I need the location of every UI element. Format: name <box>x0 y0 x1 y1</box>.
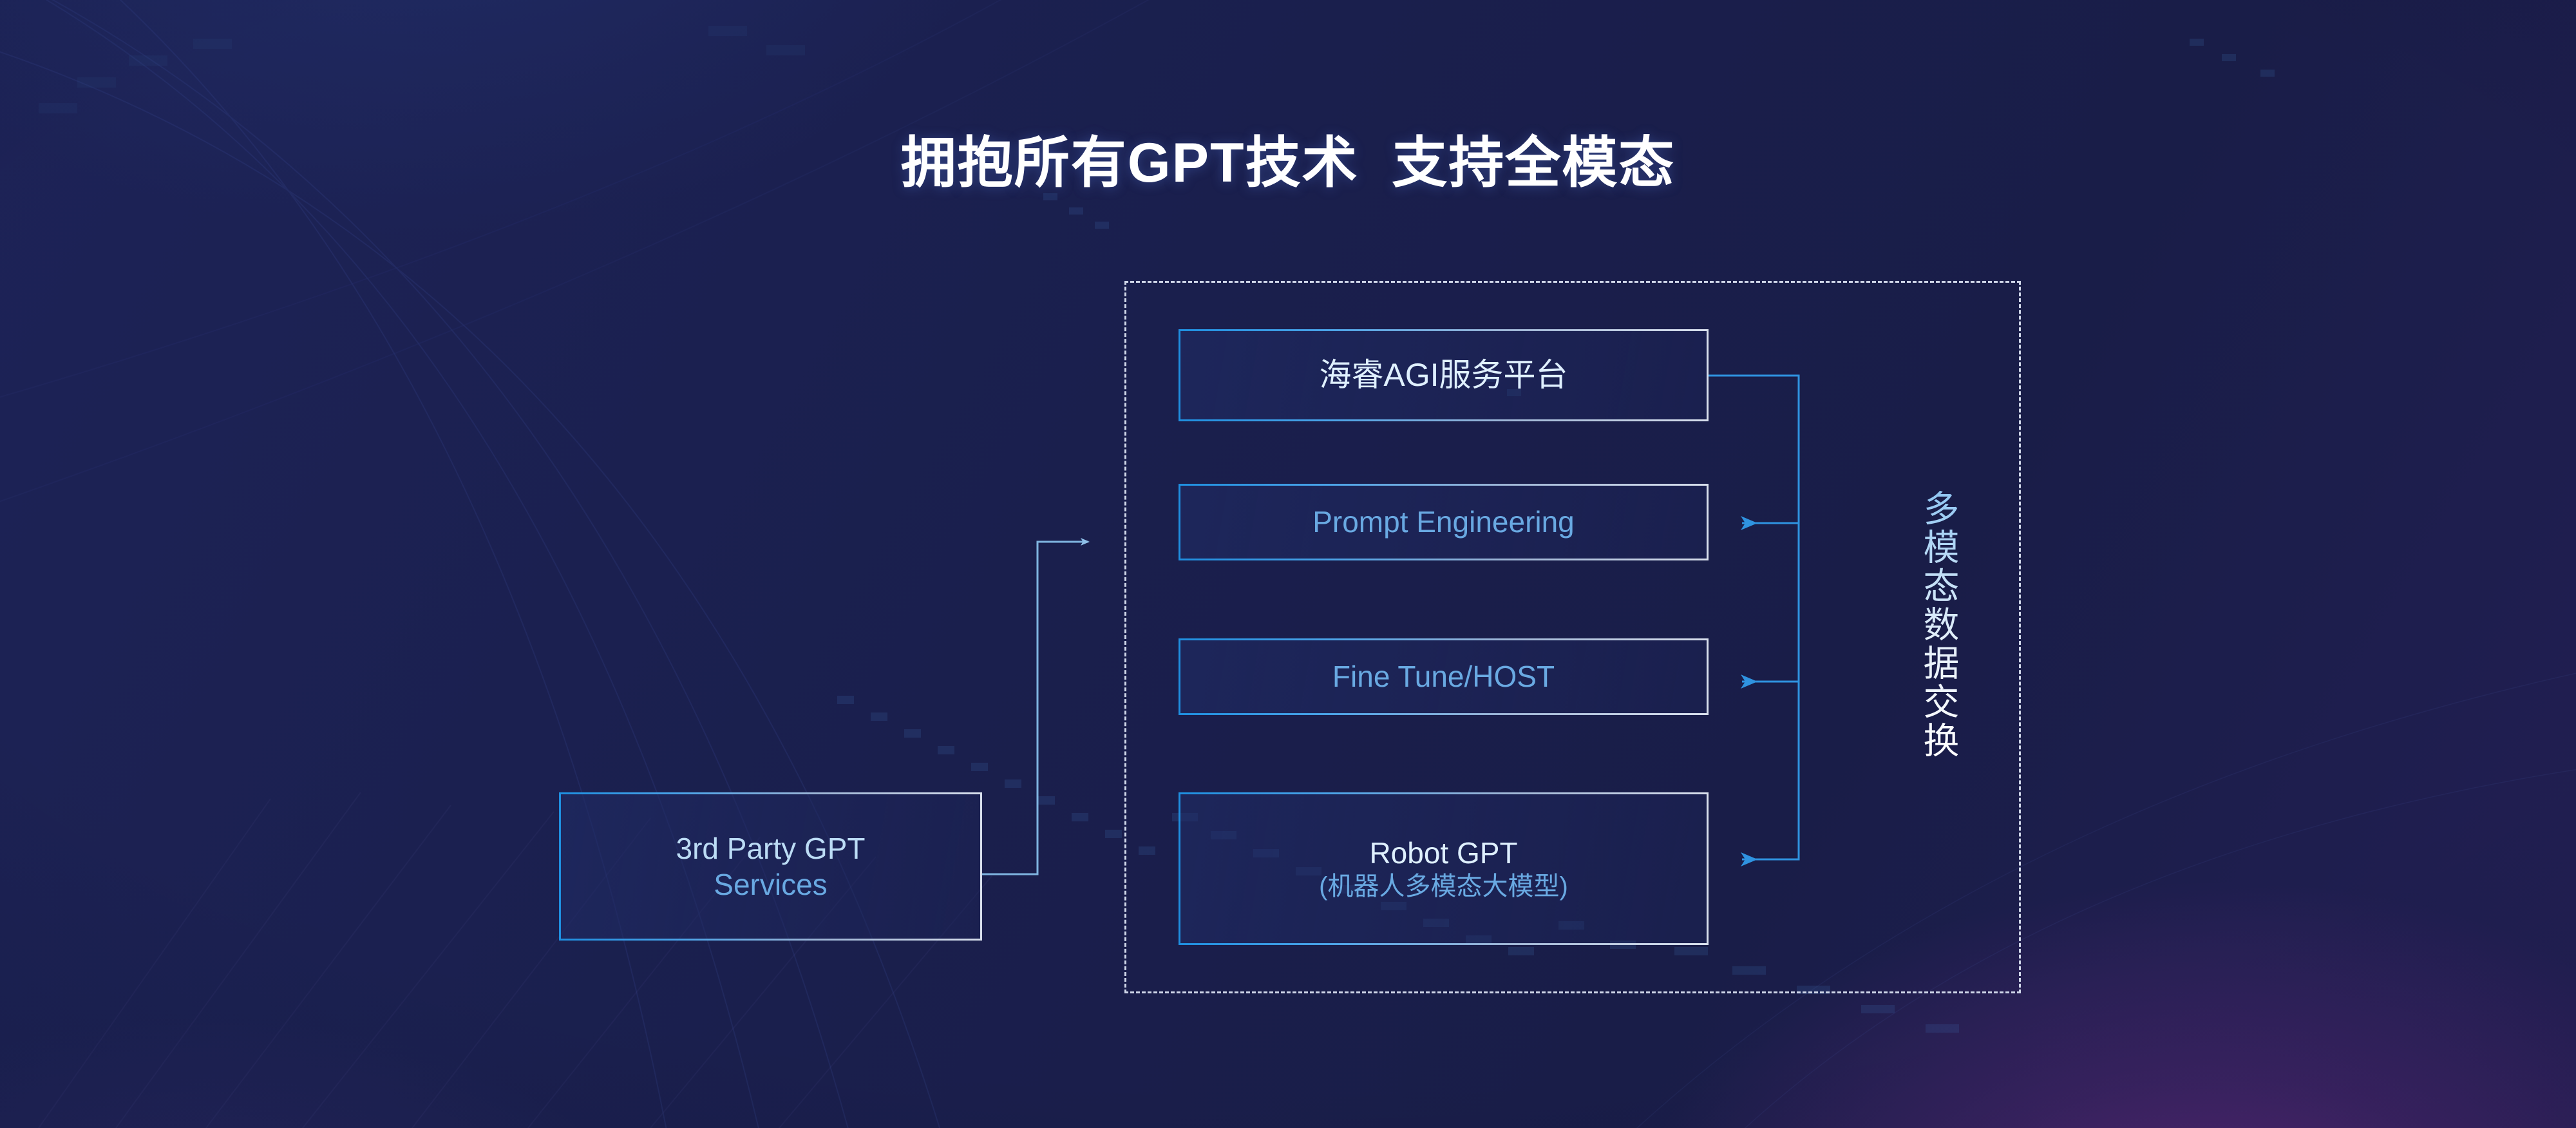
node-robot-gpt-sublabel: (机器人多模态大模型) <box>1319 871 1568 903</box>
node-third-party-gpt-sublabel: Services <box>714 866 827 903</box>
node-prompt-engineering-label: Prompt Engineering <box>1312 504 1575 540</box>
node-fine-tune-host[interactable]: Fine Tune/HOST <box>1179 638 1709 715</box>
node-agi-platform[interactable]: 海睿AGI服务平台 <box>1179 329 1709 421</box>
node-fine-tune-host-label: Fine Tune/HOST <box>1332 658 1555 694</box>
node-third-party-gpt[interactable]: 3rd Party GPT Services <box>559 792 982 941</box>
node-agi-platform-label: 海睿AGI服务平台 <box>1319 356 1567 395</box>
side-label-multimodal-data-exchange: 多模态数据交换 <box>1904 490 1958 760</box>
node-robot-gpt-label: Robot GPT <box>1369 835 1517 871</box>
page-title: 拥抱所有GPT技术 支持全模态 <box>0 117 2576 198</box>
node-third-party-gpt-label: 3rd Party GPT <box>676 830 866 866</box>
node-robot-gpt[interactable]: Robot GPT (机器人多模态大模型) <box>1179 792 1709 945</box>
node-prompt-engineering[interactable]: Prompt Engineering <box>1179 484 1709 560</box>
slide-canvas: 拥抱所有GPT技术 支持全模态 海睿AGI服务平台 Prompt Enginee… <box>0 0 2576 1128</box>
